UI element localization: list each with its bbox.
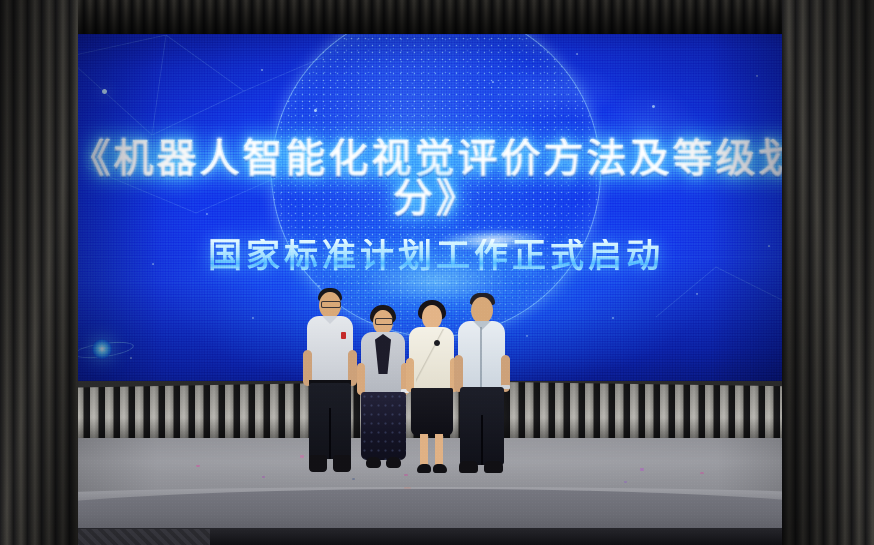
skirt-pattern xyxy=(361,392,406,460)
star xyxy=(102,89,107,94)
person-center-left xyxy=(355,305,411,477)
star xyxy=(652,105,655,108)
star xyxy=(314,109,317,112)
glasses xyxy=(375,318,393,325)
star xyxy=(174,145,176,147)
star xyxy=(261,69,263,71)
confetti-piece xyxy=(262,476,265,478)
jacket-lapel-diagonal xyxy=(416,329,448,387)
star xyxy=(576,53,578,55)
arm-left xyxy=(406,358,414,392)
brooch xyxy=(434,340,440,346)
confetti-piece xyxy=(624,481,627,483)
star xyxy=(130,357,132,359)
shirt-placket xyxy=(480,327,482,387)
trouser-split xyxy=(329,408,331,459)
star xyxy=(252,317,254,319)
star xyxy=(768,245,770,247)
black-skirt xyxy=(411,388,453,436)
person-far-right xyxy=(452,293,512,481)
confetti-piece xyxy=(700,472,704,474)
ceiling-slats xyxy=(0,0,874,34)
confetti-piece xyxy=(352,478,355,480)
star xyxy=(696,293,698,295)
star xyxy=(526,335,528,337)
star xyxy=(756,75,758,77)
shoe-right xyxy=(333,455,351,472)
shoe-right xyxy=(386,457,401,468)
confetti-piece xyxy=(640,468,644,471)
shoe-left xyxy=(459,461,478,473)
star xyxy=(428,137,431,140)
arm-left xyxy=(357,363,365,395)
right-wall-slats xyxy=(782,0,874,545)
head xyxy=(422,305,442,329)
star xyxy=(356,177,358,179)
leg-right xyxy=(435,434,443,466)
star xyxy=(152,263,154,265)
person-far-left xyxy=(300,288,360,478)
star xyxy=(206,213,208,215)
shoe-left xyxy=(366,457,381,468)
torso-shirt xyxy=(307,316,353,382)
head xyxy=(471,297,493,323)
confetti-piece xyxy=(196,465,200,467)
leg-left xyxy=(420,434,428,466)
glasses xyxy=(321,301,341,308)
shoe-right xyxy=(433,464,447,473)
trouser-split xyxy=(481,415,483,465)
star xyxy=(492,81,494,83)
shoe-left xyxy=(417,464,431,473)
conference-photo-scene: 《机器人智能化视觉评价方法及等级划分》 国家标准计划工作正式启动 xyxy=(0,0,874,545)
left-wall-slats xyxy=(0,0,78,545)
star xyxy=(318,285,320,287)
badge xyxy=(341,332,346,339)
star xyxy=(612,317,614,319)
shoe-right xyxy=(484,461,503,473)
star xyxy=(714,167,716,169)
shoe-left xyxy=(309,455,327,472)
